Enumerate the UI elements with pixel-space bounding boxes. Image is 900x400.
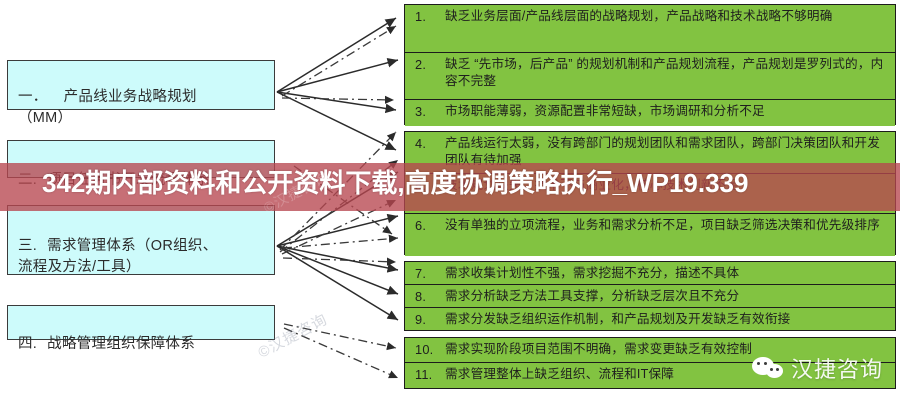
list-item-text: 需求分析缺乏方法工具支撑，分析缺乏层次且不充分: [445, 288, 889, 305]
list-item-text: 需求管理整体上缺乏组织、流程和IT保障: [445, 366, 889, 383]
left-box-1[interactable]: 一．产品线业务战略规划 （MM）: [7, 60, 275, 110]
right-group-4[interactable]: 10. 需求实现阶段项目范围不明确，需求变更缺乏有效控制 11. 需求管理整体上…: [404, 337, 896, 389]
right-group-1[interactable]: 1. 缺乏业务层面/产品线层面的战略规划，产品战略和技术战略不够明确 2. 缺乏…: [404, 4, 896, 125]
list-item-text: 缺乏 “先市场，后产品” 的规划机制和产品规划流程，产品规划是罗列式的，内容不完…: [445, 56, 889, 90]
list-item-number: 9.: [411, 311, 445, 328]
left-box-4-index: 四.: [18, 336, 37, 352]
overlay-banner-text: 342期内部资料和公开资料下载,高度协调策略执行_WP19.339: [0, 165, 900, 202]
left-box-3-label: 需求管理体系（OR组织、 流程及方法/工具）: [18, 238, 218, 275]
right-group-3[interactable]: 7. 需求收集计划性不强，需求挖掘不充分，描述不具体 8. 需求分析缺乏方法工具…: [404, 261, 896, 331]
left-box-3[interactable]: 三.需求管理体系（OR组织、 流程及方法/工具）: [7, 205, 275, 275]
list-item-text: 市场职能薄弱，资源配置非常短缺，市场调研和分析不足: [445, 103, 889, 120]
list-item[interactable]: 1. 缺乏业务层面/产品线层面的战略规划，产品战略和技术战略不够明确: [405, 5, 895, 53]
list-item-number: 6.: [411, 217, 445, 234]
list-item-number: 1.: [411, 8, 445, 25]
list-item-number: 10.: [411, 341, 445, 358]
list-item-number: 11.: [411, 366, 445, 383]
list-item[interactable]: 2. 缺乏 “先市场，后产品” 的规划机制和产品规划流程，产品规划是罗列式的，内…: [405, 53, 895, 100]
list-item[interactable]: 7. 需求收集计划性不强，需求挖掘不充分，描述不具体: [405, 262, 895, 285]
list-item[interactable]: 3. 市场职能薄弱，资源配置非常短缺，市场调研和分析不足: [405, 100, 895, 126]
list-item[interactable]: 8. 需求分析缺乏方法工具支撑，分析缺乏层次且不充分: [405, 285, 895, 308]
list-item-number: 7.: [411, 265, 445, 282]
left-box-4-label: 战略管理组织保障体系: [47, 336, 195, 352]
left-box-4[interactable]: 四.战略管理组织保障体系: [7, 305, 275, 340]
list-item[interactable]: 10. 需求实现阶段项目范围不明确，需求变更缺乏有效控制: [405, 338, 895, 363]
list-item-number: 2.: [411, 56, 445, 73]
list-item-text: 需求分发缺乏组织运作机制，和产品规划及开发缺乏有效衔接: [445, 311, 889, 328]
list-item-number: 4.: [411, 135, 445, 152]
list-item-number: 8.: [411, 288, 445, 305]
list-item-text: 需求实现阶段项目范围不明确，需求变更缺乏有效控制: [445, 341, 889, 358]
diagram-canvas: 一．产品线业务战略规划 （MM） 二.项目任务书开发流程体系 三.需求管理体系（…: [0, 0, 900, 400]
list-item-text: 缺乏业务层面/产品线层面的战略规划，产品战略和技术战略不够明确: [445, 8, 889, 25]
list-item[interactable]: 9. 需求分发缺乏组织运作机制，和产品规划及开发缺乏有效衔接: [405, 308, 895, 330]
list-item-number: 3.: [411, 103, 445, 120]
list-item[interactable]: 6. 没有单独的立项流程，业务和需求分析不足，项目缺乏筛选决策和优先级排序: [405, 214, 895, 256]
left-box-3-index: 三.: [18, 238, 37, 254]
list-item-text: 没有单独的立项流程，业务和需求分析不足，项目缺乏筛选决策和优先级排序: [445, 217, 889, 234]
list-item-text: 需求收集计划性不强，需求挖掘不充分，描述不具体: [445, 265, 889, 282]
left-box-1-index: 一．: [18, 89, 48, 105]
list-item[interactable]: 11. 需求管理整体上缺乏组织、流程和IT保障: [405, 363, 895, 387]
